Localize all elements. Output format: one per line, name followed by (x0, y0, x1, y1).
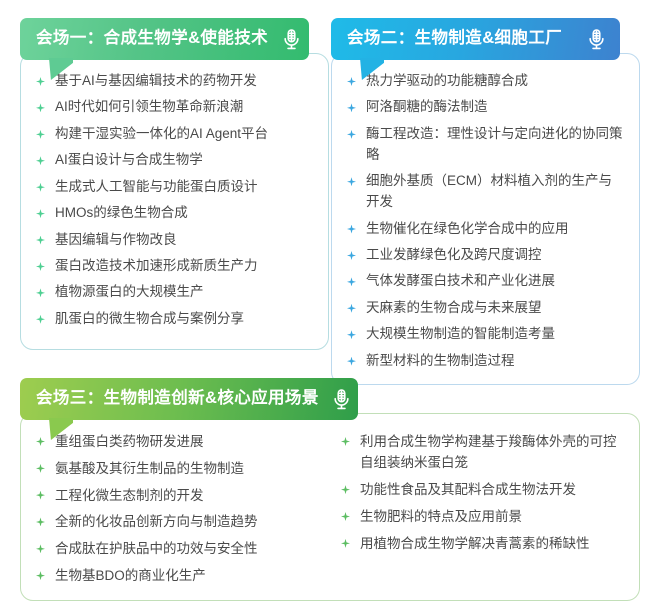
list-item[interactable]: 工程化微生态制剂的开发 (35, 485, 318, 506)
list-item[interactable]: 生物基BDO的商业化生产 (35, 565, 318, 586)
list-item[interactable]: 细胞外基质（ECM）材料植入剂的生产与开发 (346, 171, 623, 213)
microphone-icon (278, 26, 304, 52)
list-item[interactable]: 生物催化在绿色化学合成中的应用 (346, 219, 623, 240)
session-three-body: 重组蛋白类药物研发进展 氨基酸及其衍生制品的生物制造 工程化微生态制剂的开发 全… (20, 413, 640, 601)
session-card-one: 会场一：合成生物学&使能技术 基于 (20, 18, 329, 350)
list-item[interactable]: 蛋白改造技术加速形成新质生产力 (35, 256, 312, 277)
session-card-three: 会场三：生物制造创新&核心应用场景 (20, 378, 640, 601)
session-three-topic-list-left: 重组蛋白类药物研发进展 氨基酸及其衍生制品的生物制造 工程化微生态制剂的开发 全… (35, 431, 318, 586)
list-item[interactable]: 天麻素的生物合成与未来展望 (346, 298, 623, 319)
list-item[interactable]: 氨基酸及其衍生制品的生物制造 (35, 458, 318, 479)
session-three-topic-list-right: 利用合成生物学构建基于羧酶体外壳的可控自组装纳米蛋白笼 功能性食品及其配料合成生… (340, 431, 623, 554)
session-three-title: 会场三：生物制造创新&核心应用场景 (36, 389, 319, 409)
microphone-icon (329, 386, 355, 412)
session-three-right-column: 利用合成生物学构建基于羧酶体外壳的可控自组装纳米蛋白笼 功能性食品及其配料合成生… (328, 431, 623, 586)
list-item[interactable]: 利用合成生物学构建基于羧酶体外壳的可控自组装纳米蛋白笼 (340, 431, 623, 474)
list-item[interactable]: 基于AI与基因编辑技术的药物开发 (35, 71, 312, 92)
session-two-body: 热力学驱动的功能糖醇合成 阿洛酮糖的酶法制造 酶工程改造：理性设计与定向进化的协… (331, 53, 640, 385)
session-three-left-column: 重组蛋白类药物研发进展 氨基酸及其衍生制品的生物制造 工程化微生态制剂的开发 全… (35, 431, 318, 586)
session-one-topic-list: 基于AI与基因编辑技术的药物开发 AI时代如何引领生物革命新浪潮 构建干湿实验一… (35, 71, 312, 330)
list-item[interactable]: AI蛋白设计与合成生物学 (35, 150, 312, 171)
session-three-header: 会场三：生物制造创新&核心应用场景 (20, 378, 358, 420)
session-topics-board: 会场一：合成生物学&使能技术 基于 (0, 0, 650, 592)
list-item[interactable]: 大规模生物制造的智能制造考量 (346, 324, 623, 345)
list-item[interactable]: 功能性食品及其配料合成生物法开发 (340, 479, 623, 500)
list-item[interactable]: 气体发酵蛋白技术和产业化进展 (346, 271, 623, 292)
list-item[interactable]: 酶工程改造：理性设计与定向进化的协同策略 (346, 124, 623, 166)
session-three-columns: 重组蛋白类药物研发进展 氨基酸及其衍生制品的生物制造 工程化微生态制剂的开发 全… (35, 431, 623, 586)
list-item[interactable]: 基因编辑与作物改良 (35, 230, 312, 251)
list-item[interactable]: 工业发酵绿色化及跨尺度调控 (346, 245, 623, 266)
session-two-topic-list: 热力学驱动的功能糖醇合成 阿洛酮糖的酶法制造 酶工程改造：理性设计与定向进化的协… (346, 71, 623, 372)
list-item[interactable]: 用植物合成生物学解决青蒿素的稀缺性 (340, 533, 623, 554)
list-item[interactable]: 阿洛酮糖的酶法制造 (346, 97, 623, 118)
list-item[interactable]: HMOs的绿色生物合成 (35, 203, 312, 224)
list-item[interactable]: 植物源蛋白的大规模生产 (35, 282, 312, 303)
session-one-body: 基于AI与基因编辑技术的药物开发 AI时代如何引领生物革命新浪潮 构建干湿实验一… (20, 53, 329, 350)
list-item[interactable]: 重组蛋白类药物研发进展 (35, 431, 318, 452)
list-item[interactable]: 新型材料的生物制造过程 (346, 351, 623, 372)
list-item[interactable]: 构建干湿实验一体化的AI Agent平台 (35, 124, 312, 145)
session-one-title: 会场一：合成生物学&使能技术 (36, 29, 268, 49)
session-one-header: 会场一：合成生物学&使能技术 (20, 18, 309, 60)
list-item[interactable]: 肌蛋白的微生物合成与案例分享 (35, 309, 312, 330)
list-item[interactable]: 全新的化妆品创新方向与制造趋势 (35, 511, 318, 532)
session-two-header: 会场二：生物制造&细胞工厂 (331, 18, 620, 60)
list-item[interactable]: 生成式人工智能与功能蛋白质设计 (35, 177, 312, 198)
session-two-title: 会场二：生物制造&细胞工厂 (347, 29, 562, 49)
list-item[interactable]: 生物肥料的特点及应用前景 (340, 506, 623, 527)
list-item[interactable]: AI时代如何引领生物革命新浪潮 (35, 97, 312, 118)
list-item[interactable]: 热力学驱动的功能糖醇合成 (346, 71, 623, 92)
microphone-icon (583, 26, 609, 52)
list-item[interactable]: 合成肽在护肤品中的功效与安全性 (35, 538, 318, 559)
session-card-two: 会场二：生物制造&细胞工厂 热力学 (331, 18, 640, 385)
